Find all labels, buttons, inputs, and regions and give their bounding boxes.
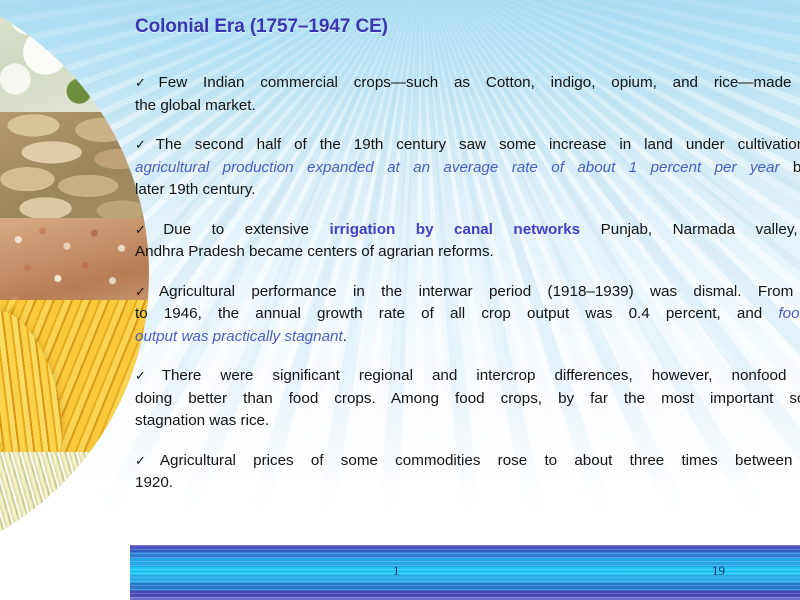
- bullet-text: later 19th century.: [135, 181, 255, 198]
- bullet-line: to 1946, the annual growth rate of all c…: [135, 303, 800, 326]
- bullet-line: 1920.: [135, 472, 800, 495]
- checkmark-bullet-icon: ✓: [135, 222, 162, 237]
- bullet-text: The second half of the 19th century saw …: [156, 136, 800, 153]
- bullet-text: doing better than food crops. Among food…: [135, 390, 800, 407]
- presentation-slide: Colonial Era (1757–1947 CE) ✓Few Indian …: [0, 0, 800, 600]
- bullet-prices: ✓Agricultural prices of some commodities…: [135, 450, 800, 495]
- bullet-text: Due to extensive: [163, 221, 329, 238]
- bullet-interwar-performance: ✓Agricultural performance in the interwa…: [135, 281, 800, 349]
- bullet-canal-irrigation: ✓Due to extensive irrigation by canal ne…: [135, 219, 800, 264]
- bullet-text: by th: [780, 159, 800, 176]
- emphasis-bold-text: irrigation by canal networks: [329, 221, 580, 238]
- bullet-text: stagnation was rice.: [135, 412, 269, 429]
- bullet-line: Andhra Pradesh became centers of agraria…: [135, 241, 800, 264]
- checkmark-bullet-icon: ✓: [135, 453, 159, 468]
- bullet-line: ✓The second half of the 19th century saw…: [135, 134, 800, 157]
- bullet-line: doing better than food crops. Among food…: [135, 388, 800, 411]
- checkmark-bullet-icon: ✓: [135, 284, 158, 299]
- bullet-text: Few Indian commercial crops—such as Cott…: [159, 74, 800, 91]
- bullet-text: There were significant regional and inte…: [162, 367, 800, 384]
- bullet-text: Agricultural performance in the interwar…: [159, 283, 800, 300]
- checkmark-bullet-icon: ✓: [135, 137, 155, 152]
- bullet-line: ✓Agricultural prices of some commodities…: [135, 450, 800, 473]
- bullet-line: ✓Agricultural performance in the interwa…: [135, 281, 800, 304]
- slide-title: Colonial Era (1757–1947 CE): [135, 16, 388, 38]
- bullet-line: agricultural production expanded at an a…: [135, 157, 800, 180]
- bullet-text: 1920.: [135, 474, 173, 491]
- footer-number-left: 1: [393, 563, 400, 579]
- bullet-19th-century-cultivation: ✓The second half of the 19th century saw…: [135, 134, 800, 202]
- emphasis-italic-text: agricultural production expanded at an a…: [135, 159, 780, 176]
- bullet-commercial-crops: ✓Few Indian commercial crops—such as Cot…: [135, 72, 800, 117]
- bullet-text: Andhra Pradesh became centers of agraria…: [135, 243, 494, 260]
- bullet-text: .: [343, 328, 347, 345]
- bullet-line: the global market.: [135, 95, 800, 118]
- slide-body: ✓Few Indian commercial crops—such as Cot…: [135, 72, 800, 512]
- bullet-line: ✓Few Indian commercial crops—such as Cot…: [135, 72, 800, 95]
- bullet-text: Agricultural prices of some commodities …: [160, 452, 800, 469]
- footer-number-right: 19: [712, 563, 725, 579]
- checkmark-bullet-icon: ✓: [135, 368, 161, 383]
- emphasis-italic-text: output was practically stagnant: [135, 328, 343, 345]
- bullet-line: stagnation was rice.: [135, 410, 800, 433]
- bullet-text: to 1946, the annual growth rate of all c…: [135, 305, 778, 322]
- bullet-line: ✓There were significant regional and int…: [135, 365, 800, 388]
- bullet-line: output was practically stagnant.: [135, 326, 800, 349]
- bullet-text: the global market.: [135, 97, 256, 114]
- bullet-text: Punjab, Narmada valley, an: [580, 221, 800, 238]
- bullet-line: later 19th century.: [135, 179, 800, 202]
- checkmark-bullet-icon: ✓: [135, 75, 158, 90]
- bullet-line: ✓Due to extensive irrigation by canal ne…: [135, 219, 800, 242]
- slide-footer: 1 19: [0, 545, 800, 600]
- bullet-regional-differences: ✓There were significant regional and int…: [135, 365, 800, 433]
- footer-stripe-band: [130, 545, 800, 600]
- emphasis-italic-text: food-gra: [778, 305, 800, 322]
